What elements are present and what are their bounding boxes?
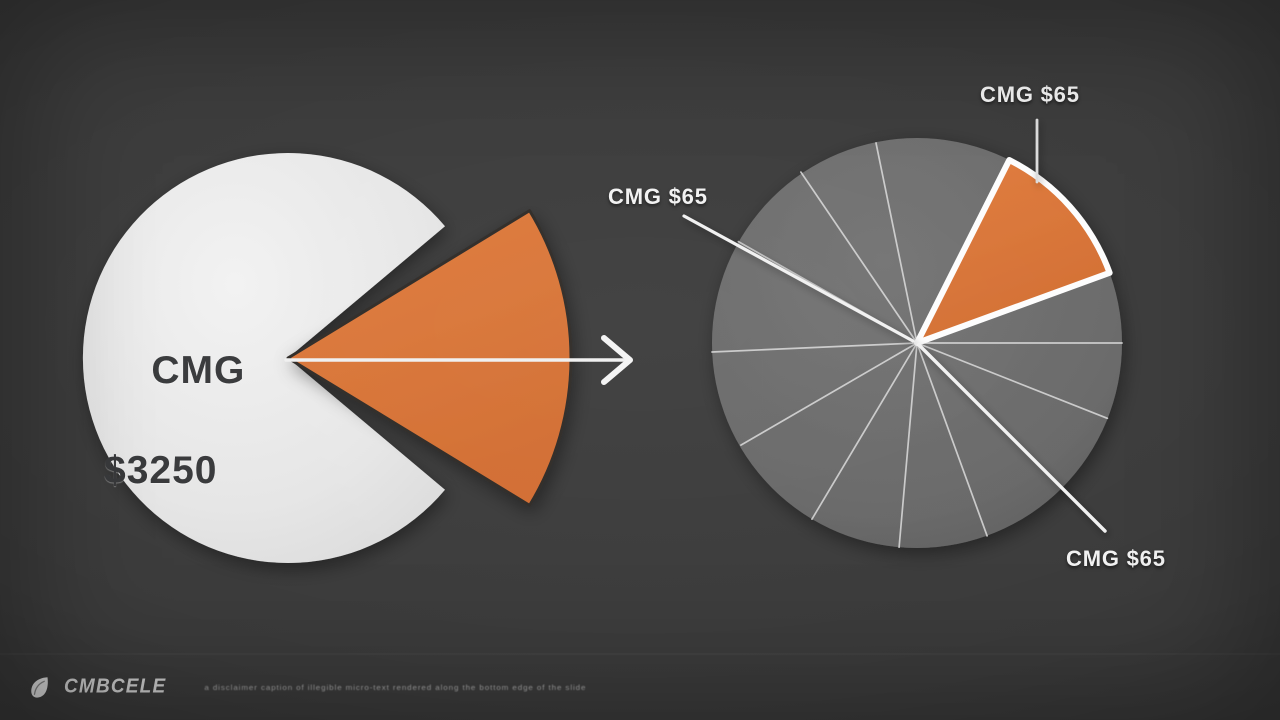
slide-canvas: CMG $3250 CMG $65 CMG $65 CMG $65 CMBCEL… — [0, 0, 1280, 720]
left-pie-label: CMG $3250 — [104, 296, 245, 595]
callout-label-top-right: CMG $65 — [980, 82, 1080, 108]
leaf-icon — [28, 674, 54, 700]
footer-bar: CMBCELE a disclaimer caption of illegibl… — [0, 654, 1280, 720]
left-pie-label-value: $3250 — [104, 446, 245, 496]
callout-label-bottom-right: CMG $65 — [1066, 546, 1166, 572]
left-pie-label-name: CMG — [151, 349, 245, 392]
callout-label-middle: CMG $65 — [608, 184, 708, 210]
footer-caption: a disclaimer caption of illegible micro-… — [204, 683, 586, 691]
brand-wordmark: CMBCELE — [64, 675, 166, 698]
